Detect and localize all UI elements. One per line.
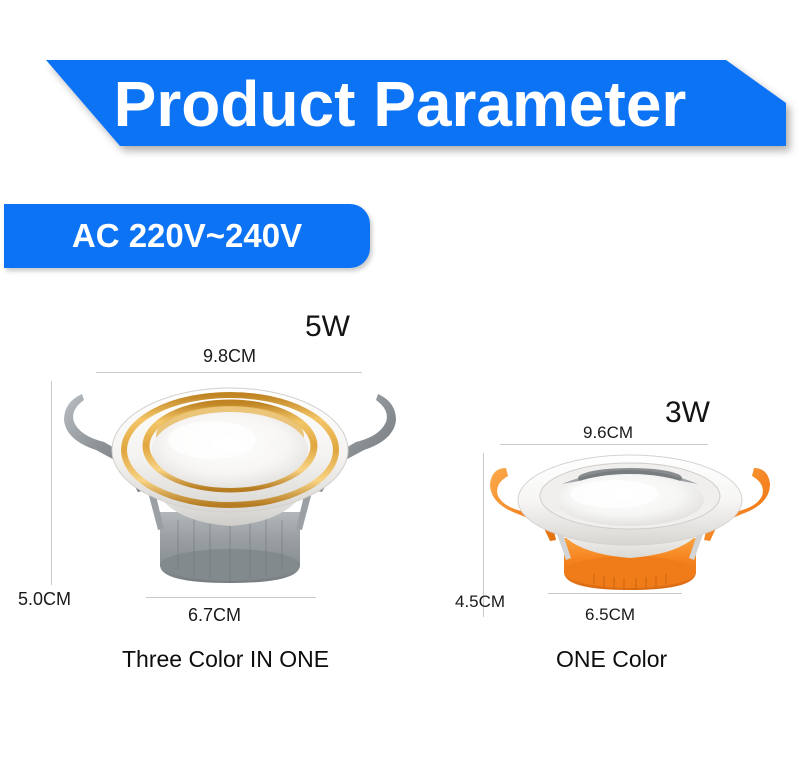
voltage-badge-label: AC 220V~240V — [4, 204, 370, 268]
product-3w-image — [490, 448, 770, 608]
product-5w-caption: Three Color IN ONE — [122, 646, 329, 673]
product-3w-power-label: 3W — [665, 396, 710, 430]
product-5w-height-rule — [51, 381, 52, 585]
voltage-badge: AC 220V~240V — [4, 204, 370, 268]
product-5w-width-label: 9.8CM — [203, 346, 256, 367]
product-5w-width-rule — [96, 372, 362, 373]
product-3w-depth-label: 6.5CM — [585, 605, 635, 625]
product-3w-width-label: 9.6CM — [583, 423, 633, 443]
page-title: Product Parameter — [0, 54, 800, 154]
product-5w-image — [60, 380, 400, 610]
product-5w-power-label: 5W — [305, 310, 350, 344]
product-3w-caption: ONE Color — [556, 646, 667, 673]
product-3w-diffuser-highlight — [570, 480, 658, 508]
product-3w-width-rule — [500, 444, 708, 445]
product-3w-driver-base — [564, 556, 696, 588]
product-5w-diffuser-highlight — [168, 421, 256, 459]
